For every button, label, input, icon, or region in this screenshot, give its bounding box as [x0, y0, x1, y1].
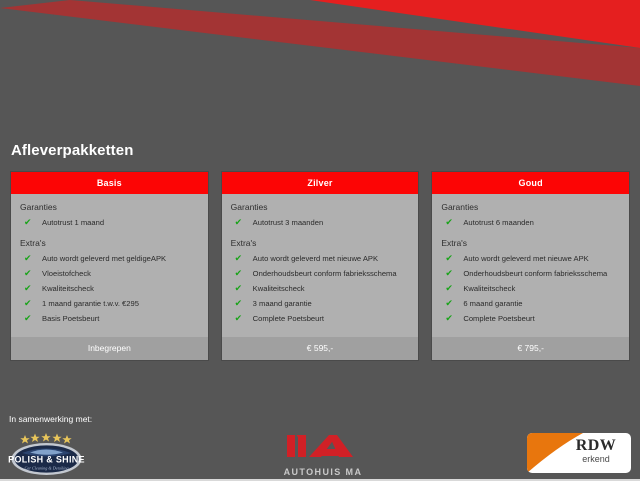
- page-root: Afleverpakketten Basis Garanties ✔Autotr…: [0, 0, 640, 481]
- package-body-goud: Garanties ✔Autotrust 6 maanden Extra's ✔…: [432, 194, 629, 335]
- list-item: ✔Kwaliteitscheck: [20, 284, 199, 294]
- package-card-zilver[interactable]: Zilver Garanties ✔Autotrust 3 maanden Ex…: [222, 172, 419, 360]
- package-card-list: Basis Garanties ✔Autotrust 1 maand Extra…: [11, 172, 629, 360]
- rdw-main-label: RDW: [568, 437, 624, 454]
- check-icon: ✔: [445, 283, 453, 294]
- list-item: ✔Kwaliteitscheck: [441, 284, 620, 294]
- extras-label: Extra's: [441, 238, 620, 248]
- check-icon: ✔: [24, 253, 32, 264]
- list-item: ✔Autotrust 1 maand: [20, 218, 199, 228]
- package-price-zilver[interactable]: € 595,-: [222, 337, 419, 360]
- list-item: ✔Auto wordt geleverd met geldigeAPK: [20, 254, 199, 264]
- list-item-label: Kwaliteitscheck: [463, 284, 515, 293]
- check-icon: ✔: [445, 313, 453, 324]
- check-icon: ✔: [235, 217, 243, 228]
- list-item: ✔Auto wordt geleverd met nieuwe APK: [231, 254, 410, 264]
- list-item-label: Auto wordt geleverd met nieuwe APK: [253, 254, 378, 263]
- check-icon: ✔: [235, 298, 243, 309]
- package-price-goud[interactable]: € 795,-: [432, 337, 629, 360]
- svg-text:POLISH & SHINE: POLISH & SHINE: [8, 455, 85, 465]
- check-icon: ✔: [445, 253, 453, 264]
- guarantees-label: Garanties: [441, 202, 620, 212]
- list-item: ✔6 maand garantie: [441, 299, 620, 309]
- list-item-label: 3 maand garantie: [253, 299, 312, 308]
- guarantees-list: ✔Autotrust 1 maand: [20, 218, 199, 228]
- package-card-basis[interactable]: Basis Garanties ✔Autotrust 1 maand Extra…: [11, 172, 208, 360]
- extras-list: ✔Auto wordt geleverd met geldigeAPK ✔Vlo…: [20, 254, 199, 324]
- list-item: ✔Onderhoudsbeurt conform fabrieksschema: [441, 269, 620, 279]
- extras-label: Extra's: [231, 238, 410, 248]
- list-item-label: Kwaliteitscheck: [253, 284, 305, 293]
- list-item-label: Complete Poetsbeurt: [253, 314, 324, 323]
- list-item-label: Autotrust 3 maanden: [253, 218, 324, 227]
- list-item: ✔Auto wordt geleverd met nieuwe APK: [441, 254, 620, 264]
- list-item-label: Onderhoudsbeurt conform fabrieksschema: [463, 269, 607, 278]
- check-icon: ✔: [24, 313, 32, 324]
- guarantees-list: ✔Autotrust 3 maanden: [231, 218, 410, 228]
- list-item: ✔Basis Poetsbeurt: [20, 314, 199, 324]
- list-item: ✔Autotrust 6 maanden: [441, 218, 620, 228]
- autohuis-ma-mark: [277, 427, 369, 461]
- list-item: ✔Onderhoudsbeurt conform fabrieksschema: [231, 269, 410, 279]
- list-item-label: 6 maand garantie: [463, 299, 522, 308]
- check-icon: ✔: [24, 298, 32, 309]
- page-title: Afleverpakketten: [11, 142, 134, 159]
- list-item: ✔Kwaliteitscheck: [231, 284, 410, 294]
- list-item: ✔Vloeistofcheck: [20, 269, 199, 279]
- partners-label: In samenwerking met:: [9, 414, 92, 424]
- svg-text:Car Cleaning & Detailing: Car Cleaning & Detailing: [24, 466, 68, 471]
- check-icon: ✔: [445, 298, 453, 309]
- package-title-basis: Basis: [11, 172, 208, 194]
- rdw-text-block: RDW erkend: [568, 437, 624, 465]
- autohuis-ma-wordmark: AUTOHUIS MA: [277, 467, 369, 477]
- check-icon: ✔: [235, 268, 243, 279]
- package-card-goud[interactable]: Goud Garanties ✔Autotrust 6 maanden Extr…: [432, 172, 629, 360]
- guarantees-label: Garanties: [231, 202, 410, 212]
- list-item-label: Vloeistofcheck: [42, 269, 91, 278]
- list-item: ✔Autotrust 3 maanden: [231, 218, 410, 228]
- autohuis-ma-logo: AUTOHUIS MA: [277, 427, 369, 475]
- list-item: ✔3 maand garantie: [231, 299, 410, 309]
- package-body-basis: Garanties ✔Autotrust 1 maand Extra's ✔Au…: [11, 194, 208, 335]
- rdw-erkend-logo: RDW erkend: [527, 433, 631, 473]
- guarantees-list: ✔Autotrust 6 maanden: [441, 218, 620, 228]
- guarantees-label: Garanties: [20, 202, 199, 212]
- check-icon: ✔: [445, 217, 453, 228]
- list-item-label: Kwaliteitscheck: [42, 284, 94, 293]
- extras-label: Extra's: [20, 238, 199, 248]
- list-item: ✔Complete Poetsbeurt: [231, 314, 410, 324]
- check-icon: ✔: [235, 253, 243, 264]
- list-item-label: Autotrust 1 maand: [42, 218, 104, 227]
- check-icon: ✔: [445, 268, 453, 279]
- list-item-label: Auto wordt geleverd met geldigeAPK: [42, 254, 166, 263]
- list-item-label: Auto wordt geleverd met nieuwe APK: [463, 254, 588, 263]
- extras-list: ✔Auto wordt geleverd met nieuwe APK ✔Ond…: [441, 254, 620, 324]
- star-row: [20, 433, 71, 444]
- check-icon: ✔: [24, 268, 32, 279]
- rdw-sub-label: erkend: [568, 454, 624, 465]
- list-item-label: 1 maand garantie t.w.v. €295: [42, 299, 139, 308]
- package-title-goud: Goud: [432, 172, 629, 194]
- diagonal-red-banner: [0, 0, 640, 92]
- check-icon: ✔: [24, 283, 32, 294]
- list-item-label: Onderhoudsbeurt conform fabrieksschema: [253, 269, 397, 278]
- package-price-basis[interactable]: Inbegrepen: [11, 337, 208, 360]
- list-item-label: Basis Poetsbeurt: [42, 314, 99, 323]
- list-item-label: Autotrust 6 maanden: [463, 218, 534, 227]
- polish-and-shine-logo: POLISH & SHINE Car Cleaning & Detailing: [8, 432, 85, 477]
- list-item: ✔1 maand garantie t.w.v. €295: [20, 299, 199, 309]
- check-icon: ✔: [24, 217, 32, 228]
- list-item: ✔Complete Poetsbeurt: [441, 314, 620, 324]
- extras-list: ✔Auto wordt geleverd met nieuwe APK ✔Ond…: [231, 254, 410, 324]
- package-body-zilver: Garanties ✔Autotrust 3 maanden Extra's ✔…: [222, 194, 419, 335]
- check-icon: ✔: [235, 283, 243, 294]
- list-item-label: Complete Poetsbeurt: [463, 314, 534, 323]
- check-icon: ✔: [235, 313, 243, 324]
- package-title-zilver: Zilver: [222, 172, 419, 194]
